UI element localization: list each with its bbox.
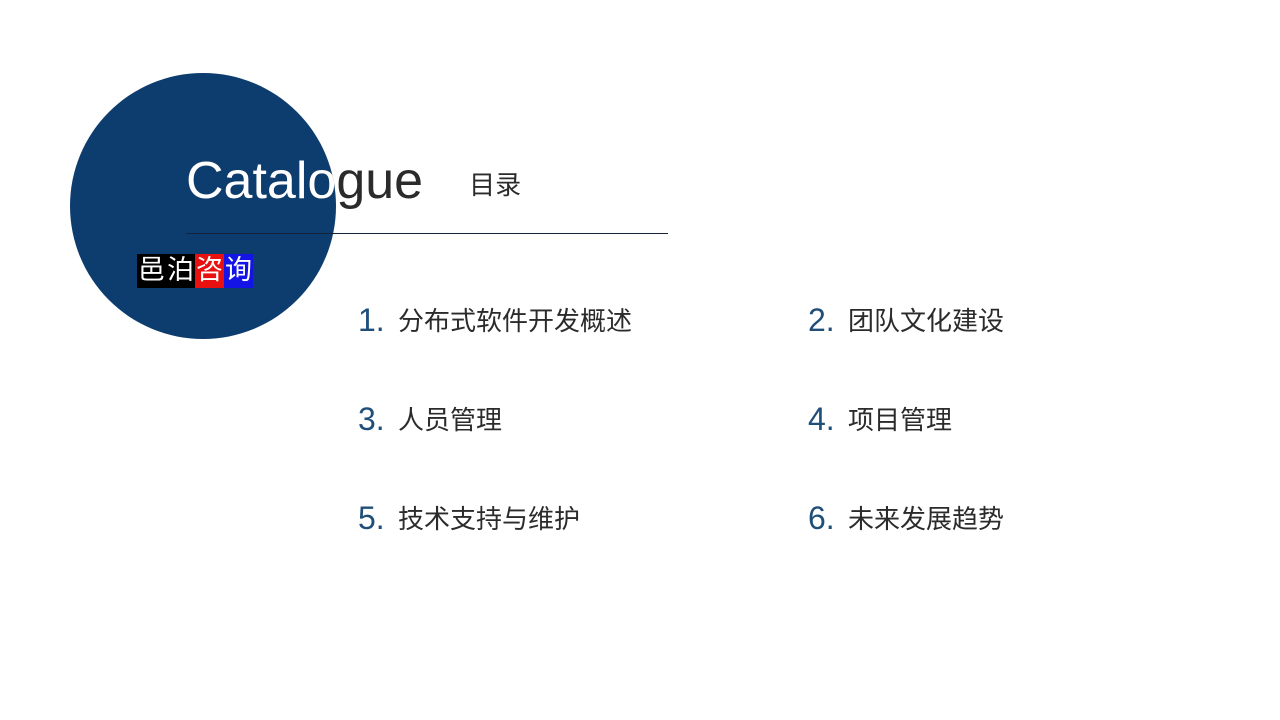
- catalogue-entry-4-label: 项目管理: [848, 407, 952, 433]
- catalogue-entry-5-number: 5.: [358, 502, 398, 534]
- catalogue-entry-1-number: 1.: [358, 304, 398, 336]
- catalogue-entry-2-number: 2.: [808, 304, 848, 336]
- catalogue-entry-2-label: 团队文化建设: [848, 308, 1004, 334]
- catalogue-entry-5[interactable]: 5. 技术支持与维护: [358, 502, 808, 601]
- logo-char-1: 邑: [137, 254, 166, 288]
- catalogue-entry-4-number: 4.: [808, 403, 848, 435]
- brand-logo-watermark: 邑 泊 咨 询: [137, 254, 253, 288]
- catalogue-slide: Catalogue Catalogue 目录 邑 泊 咨 询 1. 分布式软件开…: [0, 0, 1280, 720]
- catalogue-entry-3-number: 3.: [358, 403, 398, 435]
- page-title-english: Catalogue Catalogue: [186, 155, 423, 207]
- catalogue-row: 5. 技术支持与维护 6. 未来发展趋势: [358, 502, 1098, 601]
- catalogue-row: 3. 人员管理 4. 项目管理: [358, 403, 1098, 502]
- logo-char-2: 泊: [166, 254, 195, 288]
- page-title-chinese: 目录: [469, 172, 521, 198]
- catalogue-entry-1[interactable]: 1. 分布式软件开发概述: [358, 304, 808, 403]
- page-title-english-base: Catalogue: [186, 152, 423, 210]
- slide-title-block: Catalogue Catalogue 目录: [186, 155, 746, 235]
- catalogue-row: 1. 分布式软件开发概述 2. 团队文化建设: [358, 304, 1098, 403]
- catalogue-entry-3-label: 人员管理: [398, 407, 502, 433]
- catalogue-entry-4[interactable]: 4. 项目管理: [808, 403, 1098, 502]
- catalogue-entry-5-label: 技术支持与维护: [398, 506, 580, 532]
- title-divider-rule: [186, 233, 668, 234]
- catalogue-entry-6[interactable]: 6. 未来发展趋势: [808, 502, 1098, 601]
- catalogue-entry-6-number: 6.: [808, 502, 848, 534]
- catalogue-entry-grid: 1. 分布式软件开发概述 2. 团队文化建设 3. 人员管理 4. 项目管理 5…: [358, 304, 1098, 601]
- logo-char-4: 询: [224, 254, 253, 288]
- logo-char-3: 咨: [195, 254, 224, 288]
- catalogue-entry-1-label: 分布式软件开发概述: [398, 308, 632, 334]
- catalogue-entry-3[interactable]: 3. 人员管理: [358, 403, 808, 502]
- catalogue-entry-6-label: 未来发展趋势: [848, 506, 1004, 532]
- catalogue-entry-2[interactable]: 2. 团队文化建设: [808, 304, 1098, 403]
